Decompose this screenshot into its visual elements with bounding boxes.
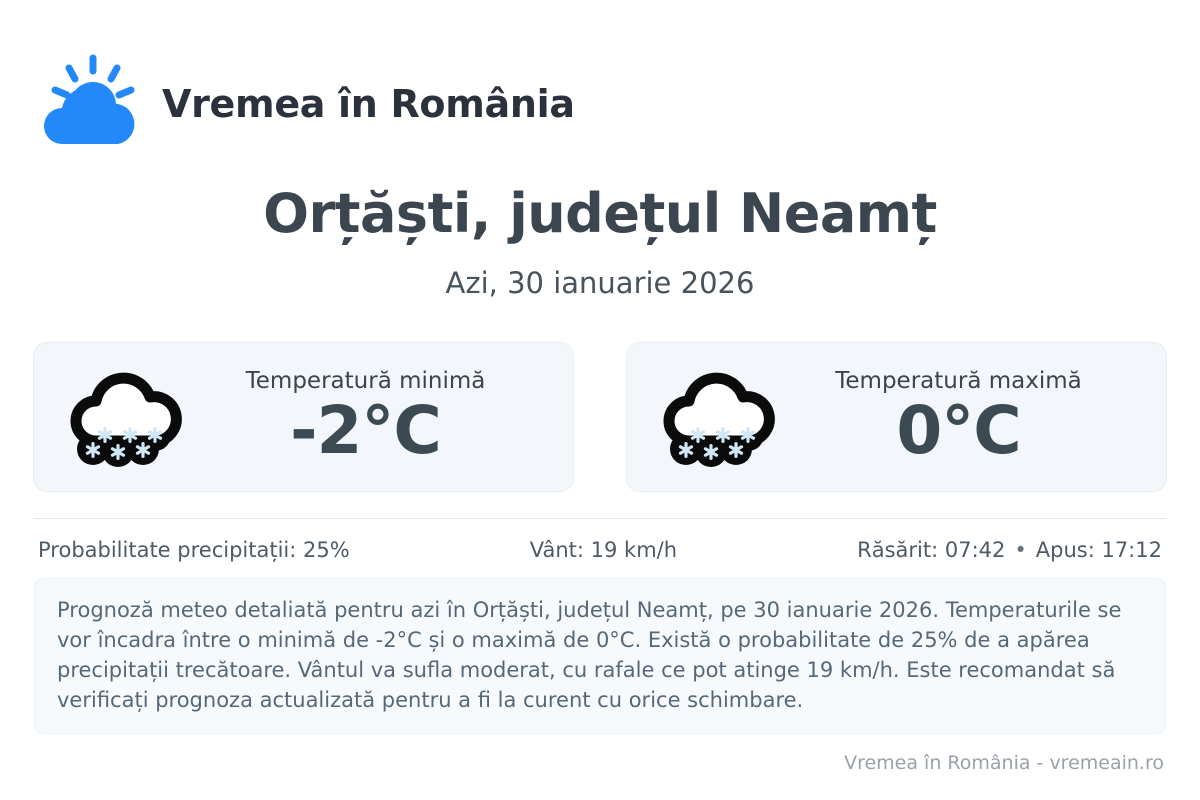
page-title: Orțăști, județul Neamț — [0, 184, 1200, 243]
stats-divider — [34, 518, 1166, 519]
date-subtitle: Azi, 30 ianuarie 2026 — [0, 266, 1200, 300]
max-temperature-value: 0°C — [791, 396, 1126, 465]
stats-row: Probabilitate precipitații: 25% Vânt: 19… — [38, 538, 1162, 562]
snow-cloud-icon — [655, 365, 787, 469]
temperature-cards: Temperatură minimă -2°C — [33, 342, 1167, 492]
wind-stat: Vânt: 19 km/h — [530, 538, 677, 562]
sunrise-value: Răsărit: 07:42 — [857, 538, 1005, 562]
footer-credit: Vremea în România - vremeain.ro — [844, 752, 1164, 774]
weather-page: Vremea în România Orțăști, județul Neamț… — [0, 0, 1200, 800]
min-temperature-card: Temperatură minimă -2°C — [33, 342, 574, 492]
forecast-description-box: Prognoză meteo detaliată pentru azi în O… — [34, 578, 1166, 734]
max-temperature-label: Temperatură maximă — [791, 369, 1126, 394]
precipitation-stat: Probabilitate precipitații: 25% — [38, 538, 350, 562]
sun-times-stat: Răsărit: 07:42•Apus: 17:12 — [857, 538, 1162, 562]
min-temperature-body: Temperatură minimă -2°C — [198, 369, 559, 466]
sun-behind-cloud-icon — [38, 52, 142, 156]
min-temperature-value: -2°C — [198, 396, 533, 465]
sun-times-separator: • — [1014, 538, 1026, 562]
brand-logo[interactable]: Vremea în România — [38, 52, 575, 156]
max-temperature-body: Temperatură maximă 0°C — [791, 369, 1152, 466]
max-temperature-card: Temperatură maximă 0°C — [626, 342, 1167, 492]
brand-name: Vremea în România — [162, 83, 575, 126]
snow-cloud-icon — [62, 365, 194, 469]
sunset-value: Apus: 17:12 — [1036, 538, 1162, 562]
forecast-description-text: Prognoză meteo detaliată pentru azi în O… — [57, 595, 1143, 715]
min-temperature-label: Temperatură minimă — [198, 369, 533, 394]
